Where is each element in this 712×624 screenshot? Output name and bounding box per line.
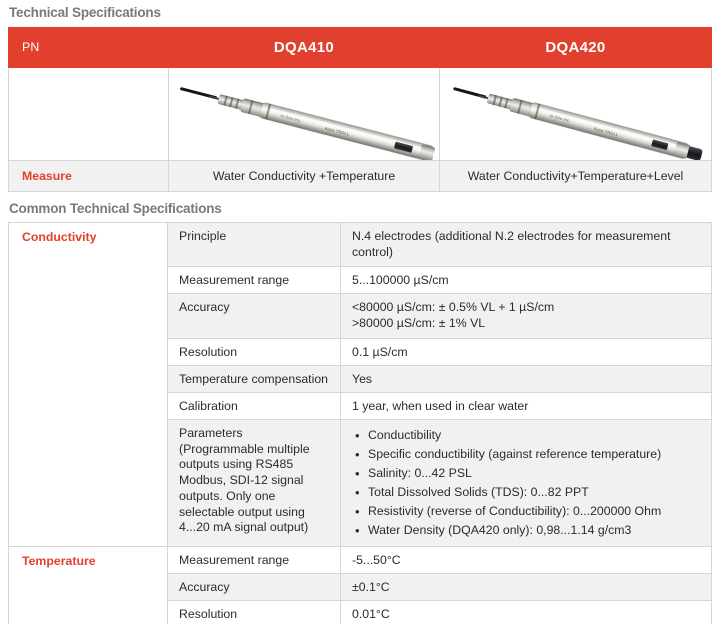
- column-header-pn: PN: [9, 27, 169, 67]
- spec-key: Measurement range: [168, 267, 341, 294]
- spec-key: Measurement range: [168, 547, 341, 574]
- measure-row-label: Measure: [9, 160, 169, 191]
- spec-key: Calibration: [168, 392, 341, 419]
- spec-value: 0.01°C: [341, 601, 712, 624]
- product-image-dqa410: In-Situ Inc. Aqua TROLL: [169, 67, 440, 160]
- product-specifications-table: PN DQA410 DQA420: [8, 27, 712, 192]
- list-item: Water Density (DQA420 only): 0,98...1.14…: [366, 521, 702, 540]
- spec-value: 0.1 µS/cm: [341, 338, 712, 365]
- list-item: Conductibility: [366, 426, 702, 445]
- category-temperature: Temperature: [9, 547, 168, 624]
- spec-key: Accuracy: [168, 294, 341, 338]
- spec-key: Principle: [168, 223, 341, 267]
- list-item: Salinity: 0...42 PSL: [366, 464, 702, 483]
- spec-value: 1 year, when used in clear water: [341, 392, 712, 419]
- spec-key-parameters: Parameters (Programmable multiple output…: [168, 419, 341, 546]
- parameter-bullet-list: Conductibility Specific conductibility (…: [352, 426, 702, 540]
- spec-key: Accuracy: [168, 574, 341, 601]
- category-conductivity: Conductivity: [9, 223, 168, 547]
- table-row: Conductivity Principle N.4 electrodes (a…: [9, 223, 712, 267]
- spec-value: N.4 electrodes (additional N.2 electrode…: [341, 223, 712, 267]
- spec-value: -5...50°C: [341, 547, 712, 574]
- measure-value-dqa420: Water Conductivity+Temperature+Level: [440, 160, 712, 191]
- table-row: Temperature Measurement range -5...50°C: [9, 547, 712, 574]
- spec-key: Resolution: [168, 338, 341, 365]
- common-specifications-table: Conductivity Principle N.4 electrodes (a…: [8, 222, 712, 624]
- spec-value: ±0.1°C: [341, 574, 712, 601]
- common-technical-specifications-heading: Common Technical Specifications: [0, 192, 712, 216]
- column-header-dqa410: DQA410: [169, 27, 440, 67]
- list-item: Total Dissolved Solids (TDS): 0...82 PPT: [366, 483, 702, 502]
- product-image-dqa420: In-Situ Inc. Aqua TROLL: [440, 67, 712, 160]
- measure-row: Measure Water Conductivity +Temperature …: [9, 160, 712, 191]
- column-header-dqa420: DQA420: [440, 27, 712, 67]
- list-item: Specific conductibility (against referen…: [366, 445, 702, 464]
- spec-key: Resolution: [168, 601, 341, 624]
- spec-value-parameters: Conductibility Specific conductibility (…: [341, 419, 712, 546]
- spec-value: 5...100000 µS/cm: [341, 267, 712, 294]
- product-image-row: In-Situ Inc. Aqua TROLL: [9, 67, 712, 160]
- list-item: Resistivity (reverse of Conductibility):…: [366, 502, 702, 521]
- spec-value: <80000 µS/cm: ± 0.5% VL + 1 µS/cm >80000…: [341, 294, 712, 338]
- table-header-row: PN DQA410 DQA420: [9, 27, 712, 67]
- measure-value-dqa410: Water Conductivity +Temperature: [169, 160, 440, 191]
- empty-cell: [9, 67, 169, 160]
- datasheet-page: Technical Specifications PN DQA410 DQA42…: [0, 0, 712, 624]
- spec-value: Yes: [341, 365, 712, 392]
- spec-key: Temperature compensation: [168, 365, 341, 392]
- technical-specifications-heading: Technical Specifications: [0, 0, 712, 20]
